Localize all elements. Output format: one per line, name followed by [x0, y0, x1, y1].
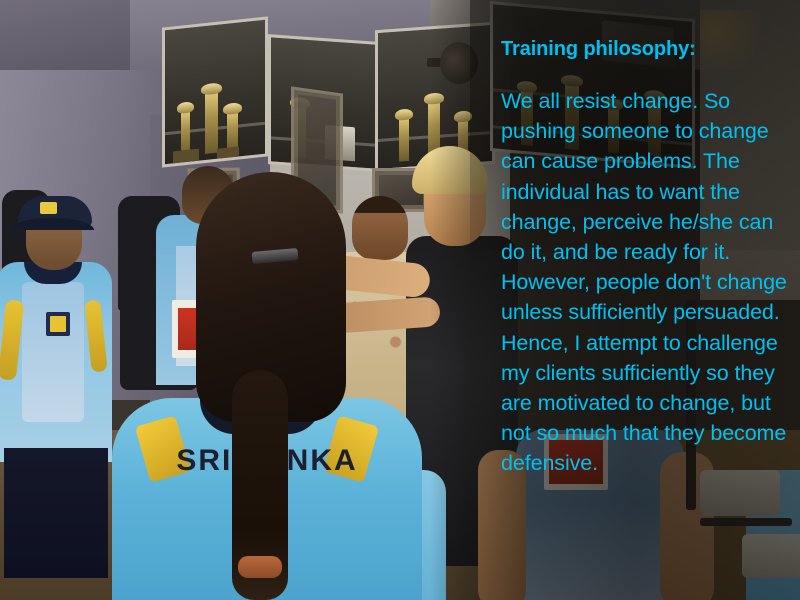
woman-head [352, 196, 408, 260]
trophy-cabinet-panel-1 [162, 16, 268, 167]
trophy [205, 91, 218, 154]
caption-body: We all resist change. So pushing someone… [501, 86, 797, 479]
trophy-base [173, 149, 199, 164]
trophy [227, 111, 238, 152]
hair-tie [238, 556, 282, 578]
wall-fixture-disc [440, 42, 478, 84]
screenshot-root: SRI LANKA Training philosophy: We all re… [0, 0, 800, 600]
player-trousers [4, 448, 108, 578]
trophy-base [217, 146, 239, 158]
team-crest-badge [46, 312, 70, 336]
chair-cushion [742, 534, 800, 578]
jersey-front-panel [22, 282, 84, 422]
caption-overlay: Training philosophy: We all resist chang… [501, 36, 797, 479]
chair-frame [700, 518, 792, 526]
caption-heading: Training philosophy: [501, 36, 797, 62]
cap-lion-crest [40, 202, 57, 214]
trophy [399, 117, 409, 162]
